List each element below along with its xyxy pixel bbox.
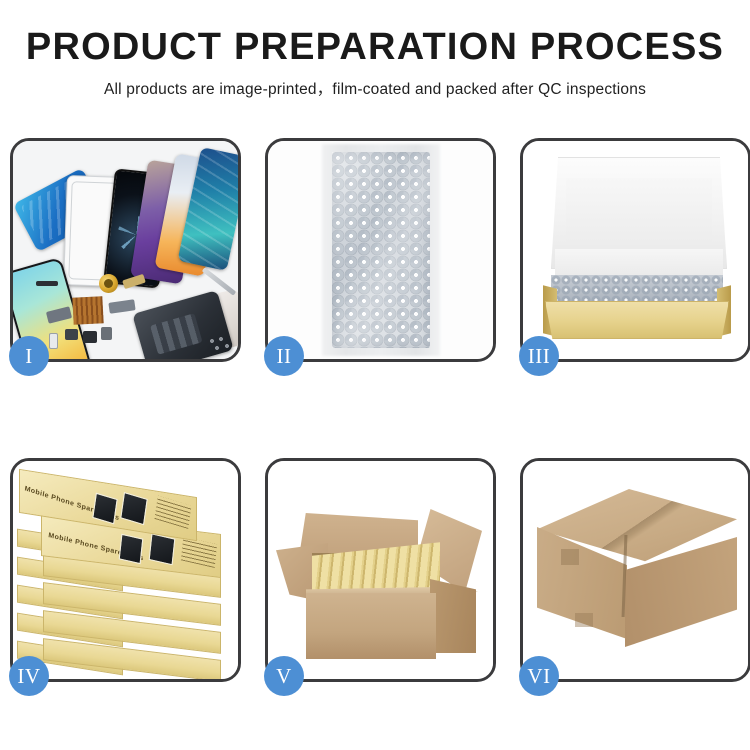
tweezers-icon bbox=[202, 267, 237, 296]
step-1-image bbox=[13, 141, 238, 359]
copper-pad-grid-part bbox=[72, 296, 103, 325]
box-spec-lines-second bbox=[181, 537, 217, 568]
chip-part-2 bbox=[83, 331, 97, 343]
carton-handle-notch-lower bbox=[575, 613, 593, 627]
box-screen-image-c bbox=[119, 534, 144, 565]
box-stack: Mobile Phone Spare Parts Mobile Phone Sp… bbox=[13, 461, 238, 679]
process-step-panel-5: V bbox=[265, 458, 496, 682]
bubble-wrap-sheen bbox=[332, 152, 430, 348]
carton-front-panel bbox=[306, 593, 436, 659]
process-step-panel-6: VI bbox=[520, 458, 750, 682]
page-subtitle: All products are image-printed，film-coat… bbox=[0, 77, 750, 99]
coil-part bbox=[99, 274, 118, 293]
step-badge-5: V bbox=[264, 656, 304, 696]
chip-part-3 bbox=[101, 327, 112, 340]
page-title: PRODUCT PREPARATION PROCESS bbox=[0, 28, 750, 68]
header: PRODUCT PREPARATION PROCESS All products… bbox=[0, 28, 750, 99]
box-spec-lines-top bbox=[154, 496, 191, 529]
step-badge-4: IV bbox=[9, 656, 49, 696]
step-badge-3: III bbox=[519, 336, 559, 376]
bar-part bbox=[36, 281, 58, 286]
process-step-panel-3: III bbox=[520, 138, 750, 362]
screws-part bbox=[209, 337, 231, 353]
step-badge-2: II bbox=[264, 336, 304, 376]
carton-side-right bbox=[430, 579, 476, 653]
box-front-panel bbox=[545, 301, 729, 339]
chip-part-4 bbox=[49, 333, 58, 349]
product-preparation-process-infographic: PRODUCT PREPARATION PROCESS All products… bbox=[0, 0, 750, 750]
step-badge-6: VI bbox=[519, 656, 559, 696]
carton-handle-notch-upper bbox=[561, 549, 579, 565]
box-screen-image-d bbox=[149, 533, 176, 565]
flex-cable-part-b bbox=[108, 299, 135, 314]
process-step-panel-1: I bbox=[10, 138, 241, 362]
process-step-grid: I II III bbox=[10, 138, 740, 682]
step-3-image bbox=[523, 141, 748, 359]
box-screen-image-b bbox=[120, 492, 148, 525]
step-4-image: Mobile Phone Spare Parts Mobile Phone Sp… bbox=[13, 461, 238, 679]
step-5-image bbox=[268, 461, 493, 679]
step-6-image bbox=[523, 461, 748, 679]
process-step-panel-4: Mobile Phone Spare Parts Mobile Phone Sp… bbox=[10, 458, 241, 682]
box-screen-image-a bbox=[92, 493, 117, 525]
chip-part-1 bbox=[65, 329, 78, 340]
bubble-wrapped-contents bbox=[551, 275, 723, 305]
step-badge-1: I bbox=[9, 336, 49, 376]
process-step-panel-2: II bbox=[265, 138, 496, 362]
step-2-image bbox=[268, 141, 493, 359]
